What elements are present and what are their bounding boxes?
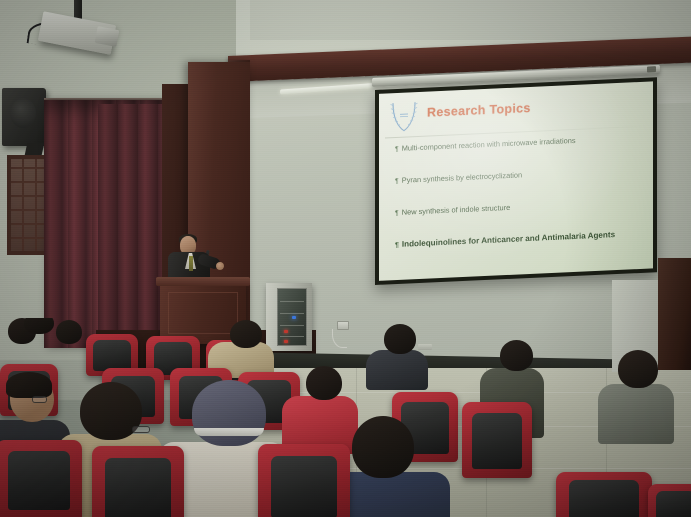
- audience-seating: [0, 318, 691, 517]
- attendee-head: [500, 340, 533, 371]
- bullet-mark-icon: ¶: [395, 242, 399, 249]
- projection-screen: Research Topics ¶Multi-component reactio…: [375, 77, 657, 285]
- slide-bullet-1-text: Multi-component reaction with microwave …: [402, 136, 576, 153]
- presenter-tie: [189, 256, 193, 271]
- attendee-head: [618, 350, 658, 388]
- seat: [0, 440, 82, 517]
- speaker-cone: [10, 98, 36, 128]
- slide-bullet-3: ¶New synthesis of indole structure: [395, 198, 645, 217]
- seat: [556, 472, 652, 517]
- presentation-slide: Research Topics ¶Multi-component reactio…: [379, 81, 653, 280]
- wall-speaker-icon: [2, 88, 46, 146]
- bullet-mark-icon: ¶: [395, 210, 399, 217]
- university-laurel-emblem-icon: [389, 99, 419, 134]
- attendee-head: [24, 318, 54, 334]
- stage-curtain-fold: [98, 104, 164, 344]
- attendee-hair: [6, 372, 52, 398]
- attendee-head: [230, 320, 262, 348]
- seat: [258, 444, 350, 517]
- slide-bullet-list: ¶Multi-component reaction with microwave…: [395, 134, 645, 273]
- attendee-torso: [598, 384, 674, 444]
- podium-lectern-top: [156, 277, 250, 286]
- lecture-hall-photo: Research Topics ¶Multi-component reactio…: [0, 0, 691, 517]
- slide-bullet-1: ¶Multi-component reaction with microwave…: [395, 134, 645, 153]
- beanie-band: [194, 428, 264, 436]
- eyeglasses-icon: [132, 426, 150, 433]
- bullet-mark-icon: ¶: [395, 146, 399, 153]
- screen-knob: [647, 66, 656, 72]
- bullet-mark-icon: ¶: [395, 178, 399, 185]
- slide-bullet-4-text: Indolequinolines for Anticancer and Anti…: [402, 230, 615, 249]
- seat: [92, 446, 184, 517]
- attendee-head: [384, 324, 416, 354]
- attendee-head: [352, 416, 414, 478]
- attendee-torso: [366, 350, 428, 390]
- eyeglasses-icon: [32, 396, 47, 403]
- slide-bullet-4: ¶Indolequinolines for Anticancer and Ant…: [395, 230, 645, 249]
- seat: [462, 402, 532, 478]
- speaker-bracket: [25, 143, 45, 155]
- presenter-hand: [216, 262, 224, 270]
- slide-title: Research Topics: [427, 101, 531, 120]
- slide-bullet-2: ¶Pyran synthesis by electrocyclization: [395, 166, 645, 185]
- slide-bullet-2-text: Pyran synthesis by electrocyclization: [402, 170, 522, 184]
- slide-bullet-3-text: New synthesis of indole structure: [402, 203, 510, 217]
- attendee-head: [192, 380, 266, 446]
- attendee-head: [306, 366, 342, 400]
- seat: [648, 484, 691, 517]
- attendee-head: [56, 320, 82, 344]
